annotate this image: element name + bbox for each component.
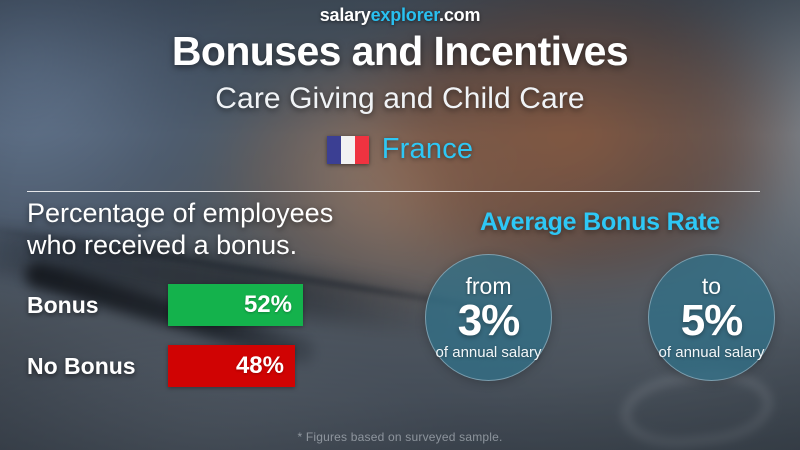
bar-label-no-bonus: No Bonus (27, 353, 168, 380)
bonus-chart-caption: Percentage of employees who received a b… (27, 198, 427, 262)
page-subtitle: Care Giving and Child Care (0, 82, 800, 116)
rate-from-prefix: from (466, 275, 512, 298)
bonus-bar-chart: Bonus 52% No Bonus 48% (27, 284, 417, 406)
logo-primary-text: salary (320, 5, 371, 25)
header-divider (27, 191, 760, 192)
caption-line-2: who received a bonus. (27, 230, 427, 262)
country-row: France (0, 133, 800, 166)
bar-value-no-bonus: 48% (236, 352, 284, 380)
flag-stripe-blue (327, 136, 341, 164)
flag-stripe-white (341, 136, 355, 164)
rate-circle-from: from 3% of annual salary (425, 254, 552, 381)
country-name: France (382, 133, 473, 166)
rate-to-value: 5% (681, 299, 743, 344)
site-logo[interactable]: salaryexplorer.com (0, 5, 800, 26)
logo-accent-text: explorer (371, 5, 439, 25)
rate-to-caption: of annual salary (659, 345, 765, 360)
footnote: * Figures based on surveyed sample. (0, 430, 800, 444)
average-bonus-rate-heading: Average Bonus Rate (420, 208, 780, 237)
rate-from-value: 3% (458, 299, 520, 344)
rate-circle-to: to 5% of annual salary (648, 254, 775, 381)
infographic-content: salaryexplorer.com Bonuses and Incentive… (0, 0, 800, 450)
bar-no-bonus: 48% (168, 345, 295, 387)
caption-line-1: Percentage of employees (27, 198, 427, 230)
bar-row-no-bonus: No Bonus 48% (27, 345, 417, 387)
bar-bonus: 52% (168, 284, 303, 326)
flag-stripe-red (355, 136, 369, 164)
infographic-canvas: salaryexplorer.com Bonuses and Incentive… (0, 0, 800, 450)
logo-suffix-text: .com (439, 5, 480, 25)
bar-row-bonus: Bonus 52% (27, 284, 417, 326)
bar-value-bonus: 52% (244, 291, 292, 319)
rate-to-prefix: to (702, 275, 721, 298)
page-title: Bonuses and Incentives (0, 28, 800, 75)
bar-label-bonus: Bonus (27, 292, 168, 319)
rate-from-caption: of annual salary (436, 345, 542, 360)
france-flag-icon (327, 136, 369, 164)
bonus-rate-range: from 3% of annual salary to 5% of annual… (425, 254, 775, 381)
